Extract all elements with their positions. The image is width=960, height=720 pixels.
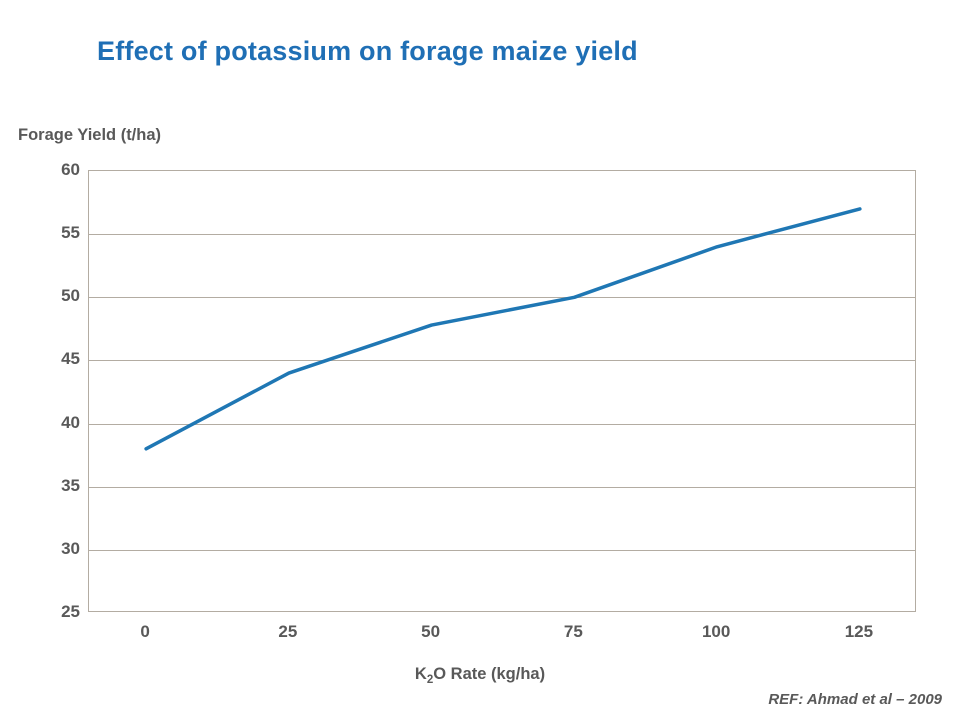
y-tick-label: 55 bbox=[40, 223, 80, 243]
y-tick-label: 40 bbox=[40, 413, 80, 433]
y-tick-label: 45 bbox=[40, 349, 80, 369]
x-tick-label: 0 bbox=[140, 622, 149, 642]
plot-area bbox=[88, 170, 916, 612]
y-tick-label: 25 bbox=[40, 602, 80, 622]
x-axis-label-subscript: 2 bbox=[427, 674, 433, 686]
x-tick-label: 25 bbox=[278, 622, 297, 642]
x-axis-label-pre: K bbox=[415, 665, 427, 683]
y-tick-label: 50 bbox=[40, 286, 80, 306]
x-tick-label: 100 bbox=[702, 622, 730, 642]
x-tick-label: 50 bbox=[421, 622, 440, 642]
y-tick-label: 35 bbox=[40, 476, 80, 496]
x-axis-label: K2O Rate (kg/ha) bbox=[0, 665, 960, 684]
y-tick-label: 60 bbox=[40, 160, 80, 180]
y-tick-label: 30 bbox=[40, 539, 80, 559]
y-axis-label: Forage Yield (t/ha) bbox=[18, 126, 161, 145]
reference-annotation: REF: Ahmad et al – 2009 bbox=[768, 691, 942, 708]
y-axis-tick-labels: 2530354045505560 bbox=[34, 170, 80, 612]
x-axis-label-post: O Rate (kg/ha) bbox=[433, 665, 545, 683]
chart-title: Effect of potassium on forage maize yiel… bbox=[97, 36, 638, 67]
x-axis-tick-labels: 0255075100125 bbox=[88, 622, 916, 648]
series-line-chart bbox=[89, 171, 917, 613]
chart-container: Effect of potassium on forage maize yiel… bbox=[0, 0, 960, 720]
x-tick-label: 125 bbox=[845, 622, 873, 642]
series-polyline bbox=[146, 209, 860, 449]
x-tick-label: 75 bbox=[564, 622, 583, 642]
